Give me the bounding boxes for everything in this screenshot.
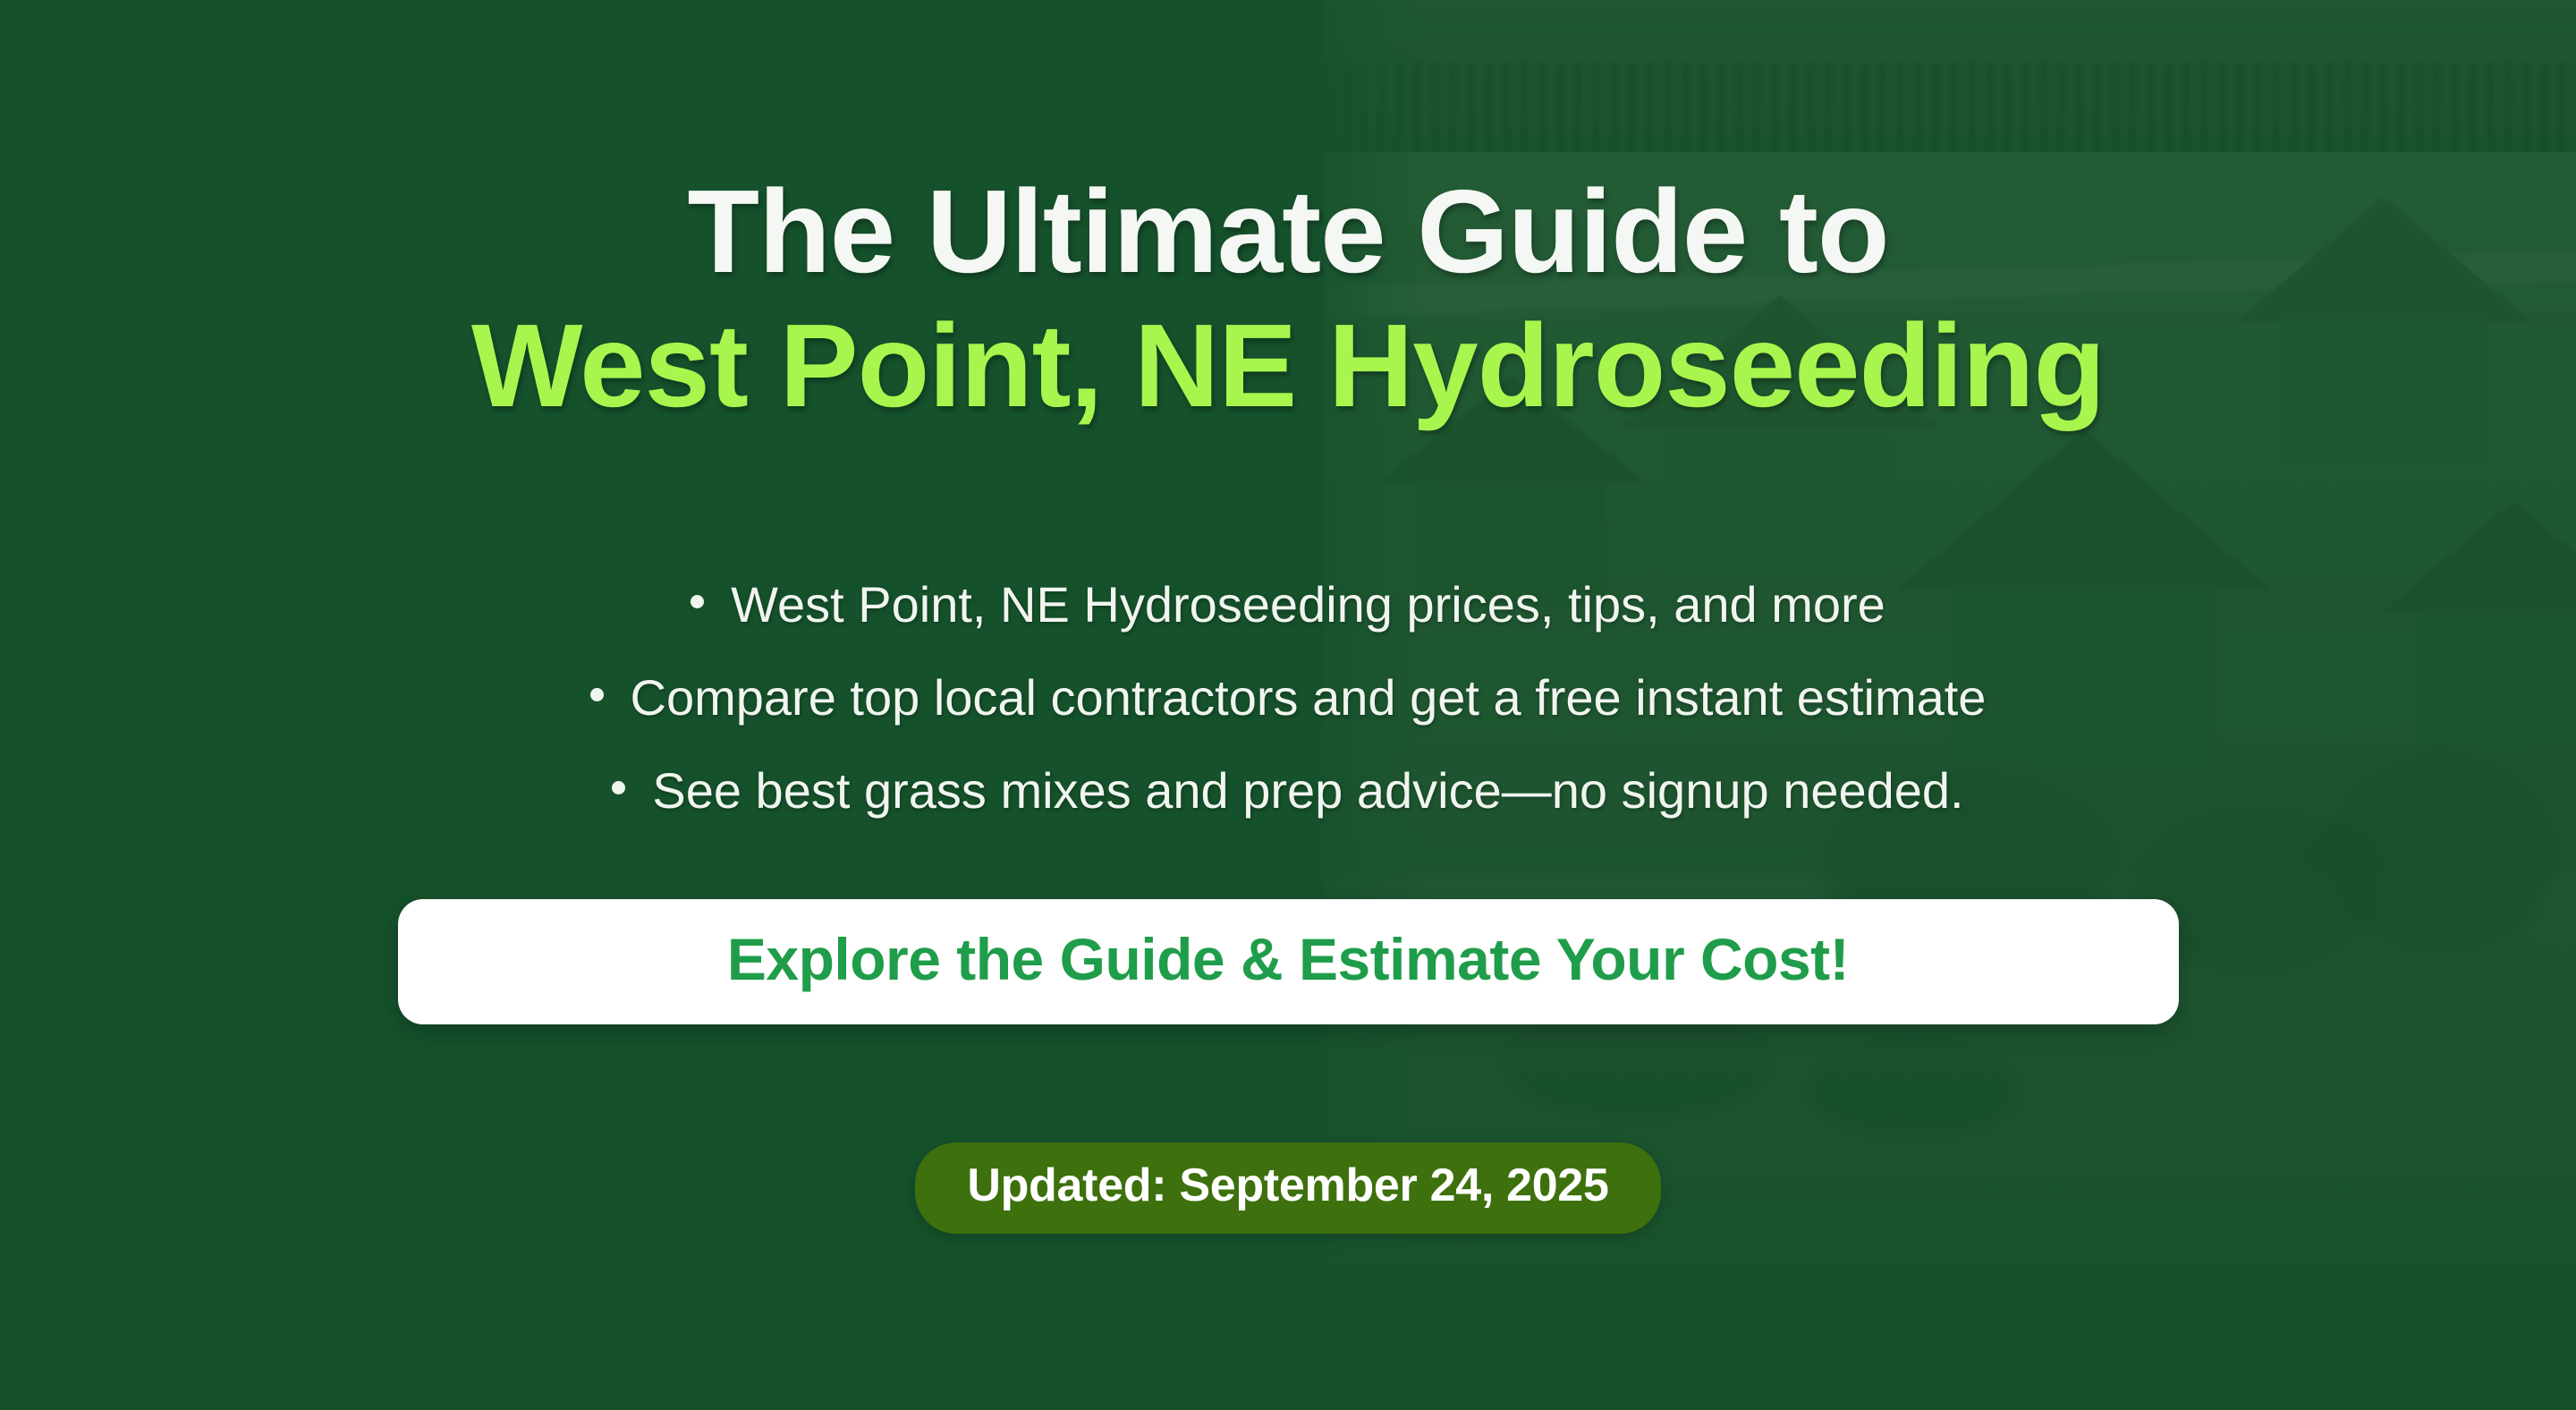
list-item: Compare top local contractors and get a … xyxy=(0,673,2576,723)
bullet-dot-icon xyxy=(612,781,625,794)
page-title: The Ultimate Guide to West Point, NE Hyd… xyxy=(0,173,2576,425)
benefit-list: West Point, NE Hydroseeding prices, tips… xyxy=(0,580,2576,859)
cta-container: Explore the Guide & Estimate Your Cost! xyxy=(0,899,2576,1024)
updated-badge-container: Updated: September 24, 2025 xyxy=(0,1142,2576,1234)
bullet-dot-icon xyxy=(590,688,604,701)
status-badge: Updated: September 24, 2025 xyxy=(915,1142,1660,1234)
page-title-line-2: West Point, NE Hydroseeding xyxy=(0,307,2576,425)
explore-guide-estimate-cost-button[interactable]: Explore the Guide & Estimate Your Cost! xyxy=(398,899,2179,1024)
hero-banner: The Ultimate Guide to West Point, NE Hyd… xyxy=(0,0,2576,1410)
list-item: West Point, NE Hydroseeding prices, tips… xyxy=(0,580,2576,630)
page-title-line-1: The Ultimate Guide to xyxy=(0,173,2576,291)
list-item: See best grass mixes and prep advice—no … xyxy=(0,766,2576,816)
bullet-dot-icon xyxy=(691,595,704,608)
banner-content: The Ultimate Guide to West Point, NE Hyd… xyxy=(0,0,2576,1410)
list-item-label: West Point, NE Hydroseeding prices, tips… xyxy=(731,576,1885,633)
list-item-label: Compare top local contractors and get a … xyxy=(631,669,1987,726)
list-item-label: See best grass mixes and prep advice—no … xyxy=(652,762,1963,819)
